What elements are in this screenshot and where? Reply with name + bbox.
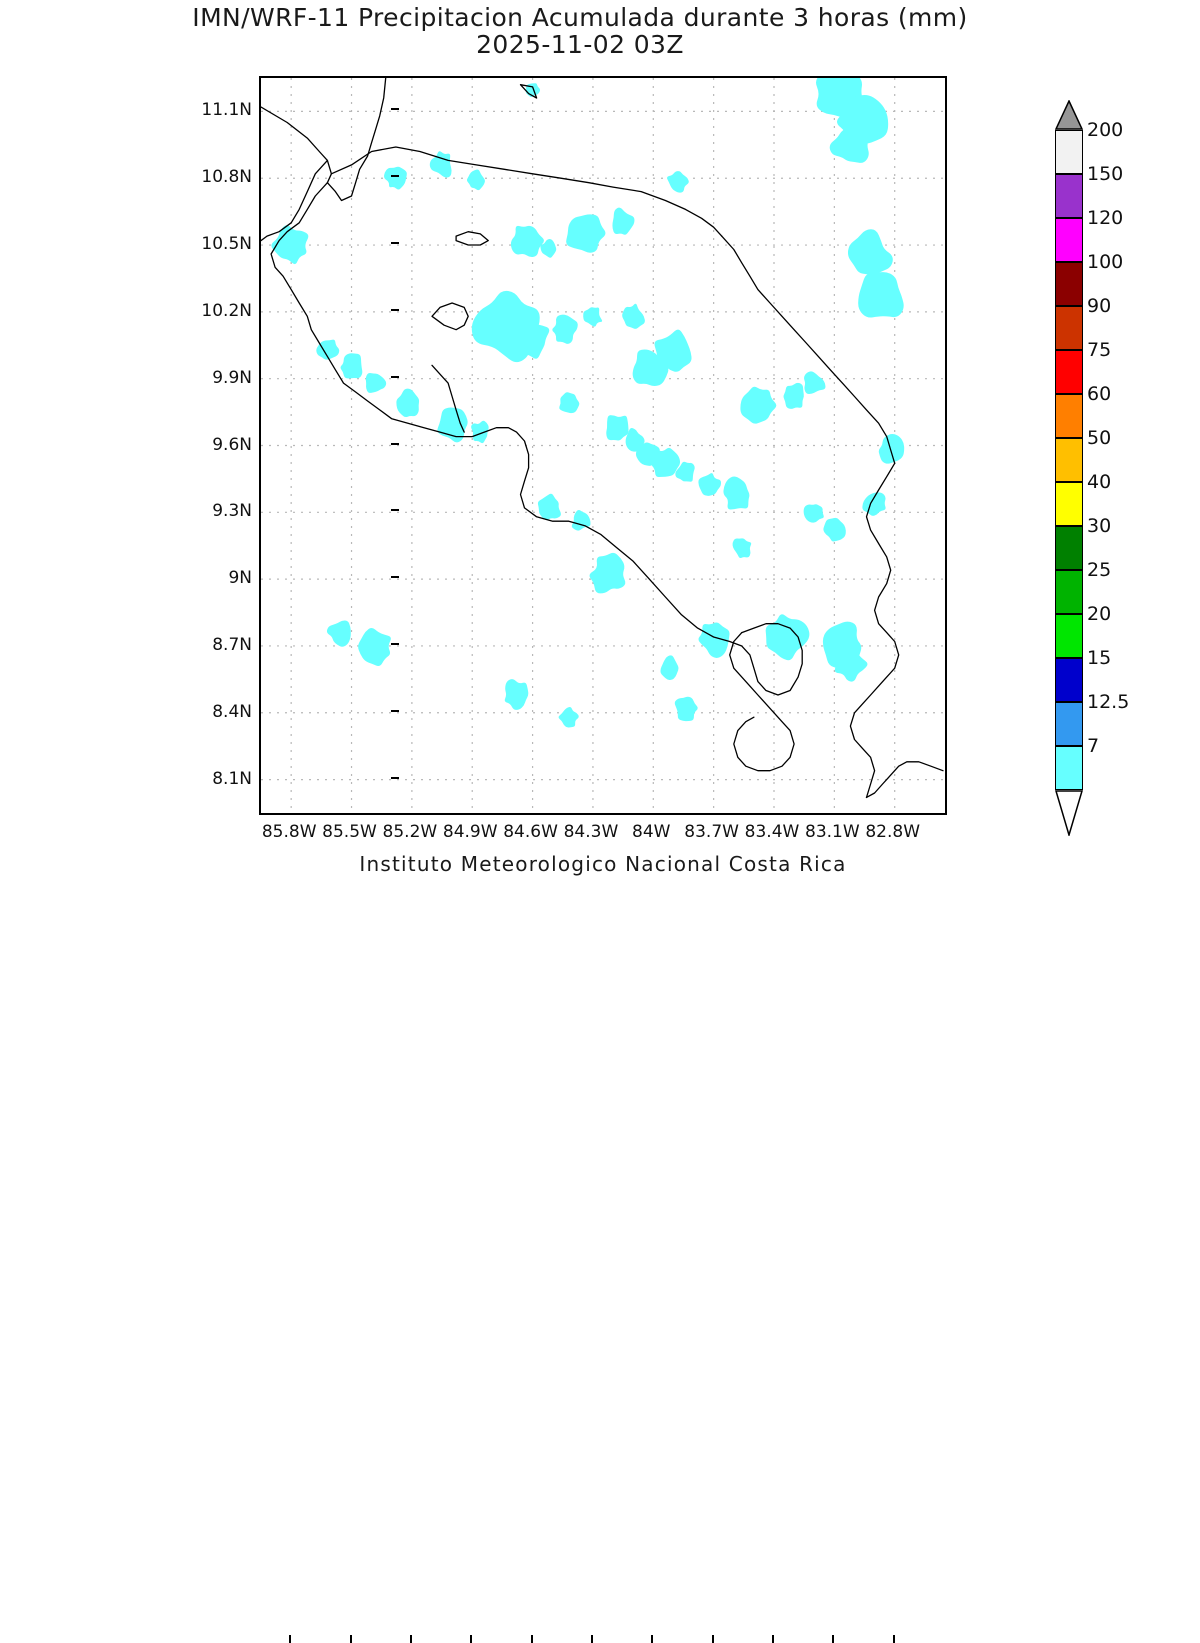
- lat-tick-mark: [391, 309, 399, 311]
- map-svg: [261, 78, 945, 813]
- lat-tick-mark: [391, 509, 399, 511]
- colorbar-band: [1055, 702, 1083, 746]
- colorbar-tick-label: 200: [1087, 119, 1123, 141]
- map-gridlines: [261, 78, 945, 813]
- lat-tick-mark: [391, 576, 399, 578]
- lat-tick-label: 10.2N: [201, 301, 252, 321]
- colorbar-band: [1055, 746, 1083, 790]
- precip-contour: [622, 304, 645, 329]
- precip-contour: [848, 229, 893, 274]
- lon-tick-label: 83.7W: [684, 822, 739, 842]
- precip-contour: [583, 307, 602, 326]
- precip-contour: [835, 649, 868, 681]
- title-line-1: IMN/WRF-11 Precipitacion Acumulada duran…: [0, 4, 1160, 31]
- precip-contour: [384, 167, 407, 190]
- colorbar-over-arrow: [1055, 100, 1083, 130]
- lat-tick-mark: [391, 443, 399, 445]
- colorbar-tick-label: 120: [1087, 207, 1123, 229]
- precip-contour: [327, 621, 351, 647]
- colorbar-tick-label: 20: [1087, 603, 1111, 625]
- lon-tick-label: 85.8W: [262, 822, 317, 842]
- precip-contour: [804, 504, 824, 522]
- precip-contour: [590, 553, 626, 593]
- lat-tick-label: 8.1N: [212, 769, 252, 789]
- precip-contour: [862, 492, 885, 515]
- colorbar-tick-label: 75: [1087, 339, 1111, 361]
- colorbar-tick-label: 100: [1087, 251, 1123, 273]
- colorbar-band: [1055, 218, 1083, 262]
- colorbar-tick-label: 12.5: [1087, 691, 1129, 713]
- lat-tick-label: 10.5N: [201, 234, 252, 254]
- lat-tick-mark: [391, 777, 399, 779]
- lon-tick-label: 82.8W: [865, 822, 920, 842]
- lon-tick-mark: [591, 1635, 593, 1643]
- title-line-2: 2025-11-02 03Z: [0, 31, 1160, 58]
- precip-contour: [675, 697, 698, 721]
- source-caption: Instituto Meteorologico Nacional Costa R…: [259, 852, 947, 876]
- precip-contour: [661, 655, 679, 680]
- precip-contour: [606, 415, 628, 440]
- colorbar-band: [1055, 262, 1083, 306]
- colorbar-band: [1055, 130, 1083, 174]
- colorbar-band: [1055, 174, 1083, 218]
- longitude-axis: 85.8W85.5W85.2W84.9W84.6W84.3W84W83.7W83…: [259, 822, 947, 848]
- map-canvas: [261, 78, 945, 813]
- colorbar-band: [1055, 482, 1083, 526]
- lat-tick-label: 11.1N: [201, 100, 252, 120]
- lat-tick-mark: [391, 242, 399, 244]
- colorbar-band: [1055, 658, 1083, 702]
- lon-tick-mark: [410, 1635, 412, 1643]
- lon-tick-mark: [772, 1635, 774, 1643]
- precip-contour: [879, 434, 904, 464]
- colorbar-band: [1055, 350, 1083, 394]
- precip-contour: [505, 679, 529, 710]
- lon-tick-mark: [832, 1635, 834, 1643]
- precip-contour: [612, 208, 634, 235]
- lat-tick-mark: [391, 376, 399, 378]
- colorbar-band: [1055, 438, 1083, 482]
- colorbar-tick-label: 60: [1087, 383, 1111, 405]
- lon-tick-label: 84W: [632, 822, 670, 842]
- map-plot-area[interactable]: [259, 76, 947, 815]
- precip-contour: [366, 373, 386, 393]
- latitude-axis: 11.1N10.8N10.5N10.2N9.9N9.6N9.3N9N8.7N8.…: [140, 76, 252, 815]
- lat-tick-mark: [391, 643, 399, 645]
- precip-contour: [396, 389, 419, 417]
- colorbar-band: [1055, 614, 1083, 658]
- lat-tick-label: 8.4N: [212, 702, 252, 722]
- lon-tick-mark: [350, 1635, 352, 1643]
- lon-tick-label: 83.1W: [805, 822, 860, 842]
- precip-contour: [698, 473, 721, 496]
- coastline-borders: [261, 78, 943, 797]
- lon-tick-mark: [893, 1635, 895, 1643]
- colorbar-tick-label: 40: [1087, 471, 1111, 493]
- colorbar-tick-label: 15: [1087, 647, 1111, 669]
- precip-contour: [538, 494, 561, 520]
- lat-tick-label: 9.3N: [212, 501, 252, 521]
- precip-contour: [341, 353, 363, 378]
- lon-tick-label: 85.5W: [322, 822, 377, 842]
- colorbar-tick-label: 50: [1087, 427, 1111, 449]
- precip-contour: [858, 272, 904, 317]
- lon-tick-label: 84.9W: [443, 822, 498, 842]
- precip-contour: [559, 392, 579, 413]
- lat-tick-label: 10.8N: [201, 167, 252, 187]
- lon-tick-label: 83.4W: [745, 822, 800, 842]
- precip-contour: [804, 371, 825, 394]
- precipitation-field: [271, 78, 904, 728]
- lon-tick-mark: [531, 1635, 533, 1643]
- precip-contour: [784, 383, 804, 409]
- colorbar-band: [1055, 394, 1083, 438]
- lat-tick-mark: [391, 108, 399, 110]
- precip-contour: [467, 169, 485, 190]
- lon-tick-mark: [289, 1635, 291, 1643]
- lon-tick-mark: [712, 1635, 714, 1643]
- precip-contour: [526, 83, 540, 97]
- precip-contour: [511, 226, 544, 257]
- precip-contour: [740, 387, 776, 424]
- precip-contour: [823, 518, 845, 542]
- lat-tick-label: 9N: [228, 568, 252, 588]
- precip-contour: [358, 628, 391, 666]
- lon-tick-label: 85.2W: [383, 822, 438, 842]
- colorbar-tick-label: 7: [1087, 735, 1099, 757]
- precip-contour: [733, 538, 752, 558]
- lat-tick-mark: [391, 175, 399, 177]
- lon-tick-mark: [470, 1635, 472, 1643]
- lon-tick-mark: [651, 1635, 653, 1643]
- colorbar-under-arrow: [1055, 790, 1083, 836]
- lat-tick-mark: [391, 710, 399, 712]
- precip-contour: [566, 214, 605, 252]
- colorbar-tick-label: 90: [1087, 295, 1111, 317]
- colorbar-band: [1055, 526, 1083, 570]
- chart-title-block: IMN/WRF-11 Precipitacion Acumulada duran…: [0, 4, 1160, 58]
- lon-tick-label: 84.6W: [503, 822, 558, 842]
- precipitation-colorbar[interactable]: 20015012010090756050403025201512.57: [1055, 100, 1083, 810]
- colorbar-tick-label: 25: [1087, 559, 1111, 581]
- colorbar-tick-label: 150: [1087, 163, 1123, 185]
- colorbar-band: [1055, 306, 1083, 350]
- colorbar-tick-label: 30: [1087, 515, 1111, 537]
- lat-tick-label: 9.9N: [212, 368, 252, 388]
- lon-tick-label: 84.3W: [564, 822, 619, 842]
- precip-contour: [667, 171, 689, 193]
- precip-contour: [552, 315, 577, 344]
- colorbar-band: [1055, 570, 1083, 614]
- precip-contour: [559, 707, 579, 727]
- precip-contour: [723, 476, 749, 509]
- lat-tick-label: 9.6N: [212, 435, 252, 455]
- lat-tick-label: 8.7N: [212, 635, 252, 655]
